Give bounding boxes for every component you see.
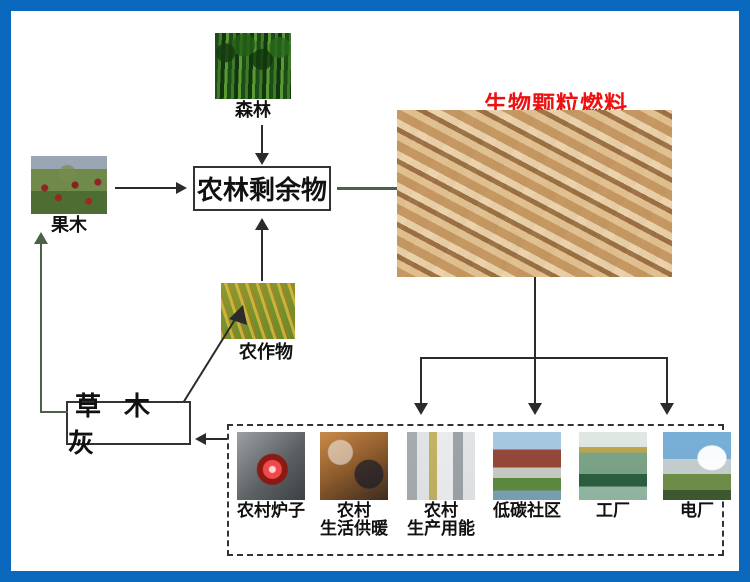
connector-crops-to-residue xyxy=(261,229,263,281)
usage-photo-rural-stove xyxy=(237,432,305,500)
connector-branch-left xyxy=(420,357,422,404)
connector-ash-to-fruitwood-vertical xyxy=(40,244,42,413)
node-agroforestry-residue[interactable]: 农林剩余物 xyxy=(193,166,331,211)
arrowhead-ash-to-fruitwood xyxy=(34,232,48,244)
connector-ash-bracket-horizontal xyxy=(40,411,68,413)
connector-pellets-down xyxy=(534,277,536,357)
arrowhead-forest-down xyxy=(255,153,269,165)
usage-label-rural-heating: 农村 生活供暖 xyxy=(306,503,402,539)
usage-label-rural-stove: 农村炉子 xyxy=(223,503,319,521)
arrowhead-branch-left xyxy=(414,403,428,415)
fruitwood-photo xyxy=(31,156,107,214)
usage-label-factory: 工厂 xyxy=(565,503,661,521)
usage-photo-factory xyxy=(579,432,647,500)
connector-distribution-bar xyxy=(420,357,668,359)
usage-photo-power-plant xyxy=(663,432,731,500)
arrowhead-crops-up xyxy=(255,218,269,230)
arrowhead-usage-to-ash xyxy=(195,433,206,445)
arrowhead-branch-right xyxy=(660,403,674,415)
node-plant-ash[interactable]: 草 木 灰 xyxy=(66,401,191,445)
usage-photo-rural-heating xyxy=(320,432,388,500)
usage-label-power-plant: 电厂 xyxy=(649,503,745,521)
usage-label-low-carbon-community: 低碳社区 xyxy=(479,503,575,521)
connector-residue-to-pellets xyxy=(337,187,399,190)
connector-branch-right xyxy=(666,357,668,404)
diagram-canvas: 森林 果木 农林剩余物 农作物 草 木 灰 生物颗粒燃料 农村炉子 xyxy=(11,11,739,571)
usage-photo-rural-production xyxy=(407,432,475,500)
pellet-fuel-photo xyxy=(397,110,672,277)
connector-forest-to-residue xyxy=(261,125,263,154)
usage-photo-low-carbon-community xyxy=(493,432,561,500)
arrowhead-branch-middle xyxy=(528,403,542,415)
usage-label-rural-production: 农村 生产用能 xyxy=(393,503,489,539)
connector-branch-middle xyxy=(534,357,536,404)
forest-photo xyxy=(215,33,291,99)
forest-label: 森林 xyxy=(205,101,301,121)
connector-fruitwood-to-residue xyxy=(115,187,177,189)
arrowhead-fruitwood-right xyxy=(176,182,187,194)
